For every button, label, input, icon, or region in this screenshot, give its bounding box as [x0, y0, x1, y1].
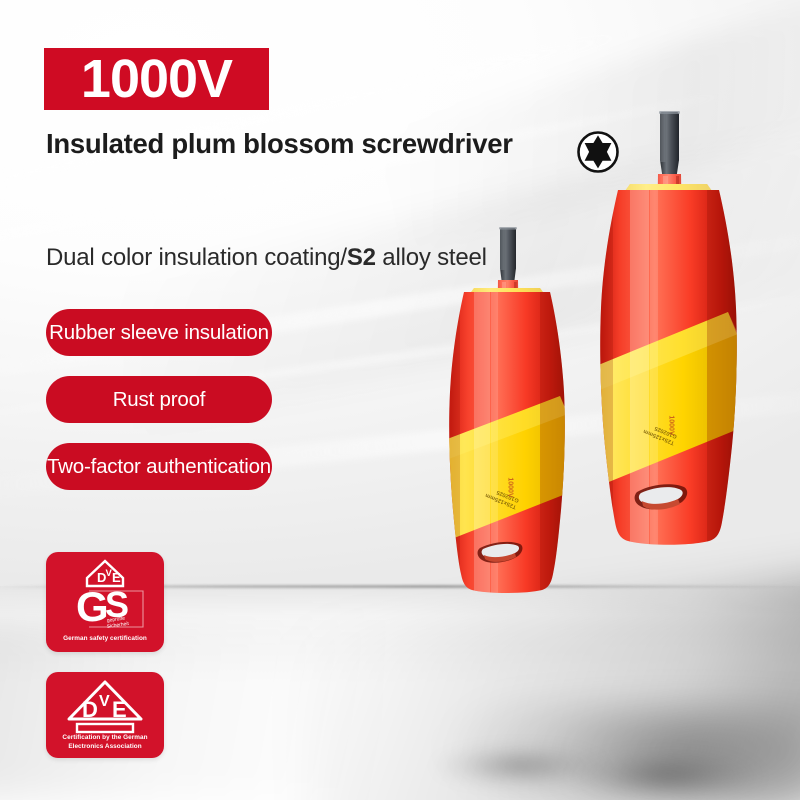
voltage-badge: 1000V [44, 48, 269, 110]
feature-pill-2: Rust proof [46, 376, 272, 423]
vde-caption-line-1: Certification by the German [46, 734, 164, 742]
screwdriver-back-shaft-mark: 1000V [507, 477, 514, 497]
voltage-badge-label: 1000V [44, 48, 269, 110]
page-title: Insulated plum blossom screwdriver [46, 128, 513, 160]
tagline: Dual color insulation coating/S2 alloy s… [46, 244, 487, 272]
feature-pill-3: Two-factor authentication [46, 443, 272, 490]
svg-text:D: D [82, 697, 98, 722]
tagline-part-1: Dual color insulation coating/ [46, 244, 347, 271]
svg-text:G: G [76, 583, 109, 630]
vde-caption-line-2: Electronics Association [46, 743, 164, 751]
gs-certification-badge: D V E G S geprüfte Sicherheit German saf… [46, 552, 164, 652]
svg-text:V: V [99, 693, 110, 710]
feature-pill-2-label: Rust proof [113, 388, 206, 412]
screwdriver-front: T25x125mm G102025 1000V [576, 110, 761, 775]
vde-certification-badge: D V E Certification by the German Electr… [46, 672, 164, 758]
svg-text:E: E [112, 697, 127, 722]
feature-pill-3-label: Two-factor authentication [47, 455, 271, 479]
svg-text:E: E [112, 570, 121, 585]
tagline-steel-grade: S2 [347, 244, 376, 271]
product-banner: 1000V Insulated plum blossom screwdriver… [0, 0, 800, 800]
screwdriver-front-shaft-mark: 1000V [668, 415, 675, 435]
feature-pill-1-label: Rubber sleeve insulation [49, 321, 269, 345]
gs-badge-caption: German safety certification [46, 635, 164, 643]
vde-mark-icon: D V E [55, 677, 155, 739]
screwdriver-back: T25x125mm G102025 1000V [428, 226, 588, 771]
vde-badge-caption: Certification by the German Electronics … [46, 734, 164, 751]
feature-pill-1: Rubber sleeve insulation [46, 309, 272, 356]
gs-mark-icon: D V E G S geprüfte Sicherheit [59, 558, 151, 632]
